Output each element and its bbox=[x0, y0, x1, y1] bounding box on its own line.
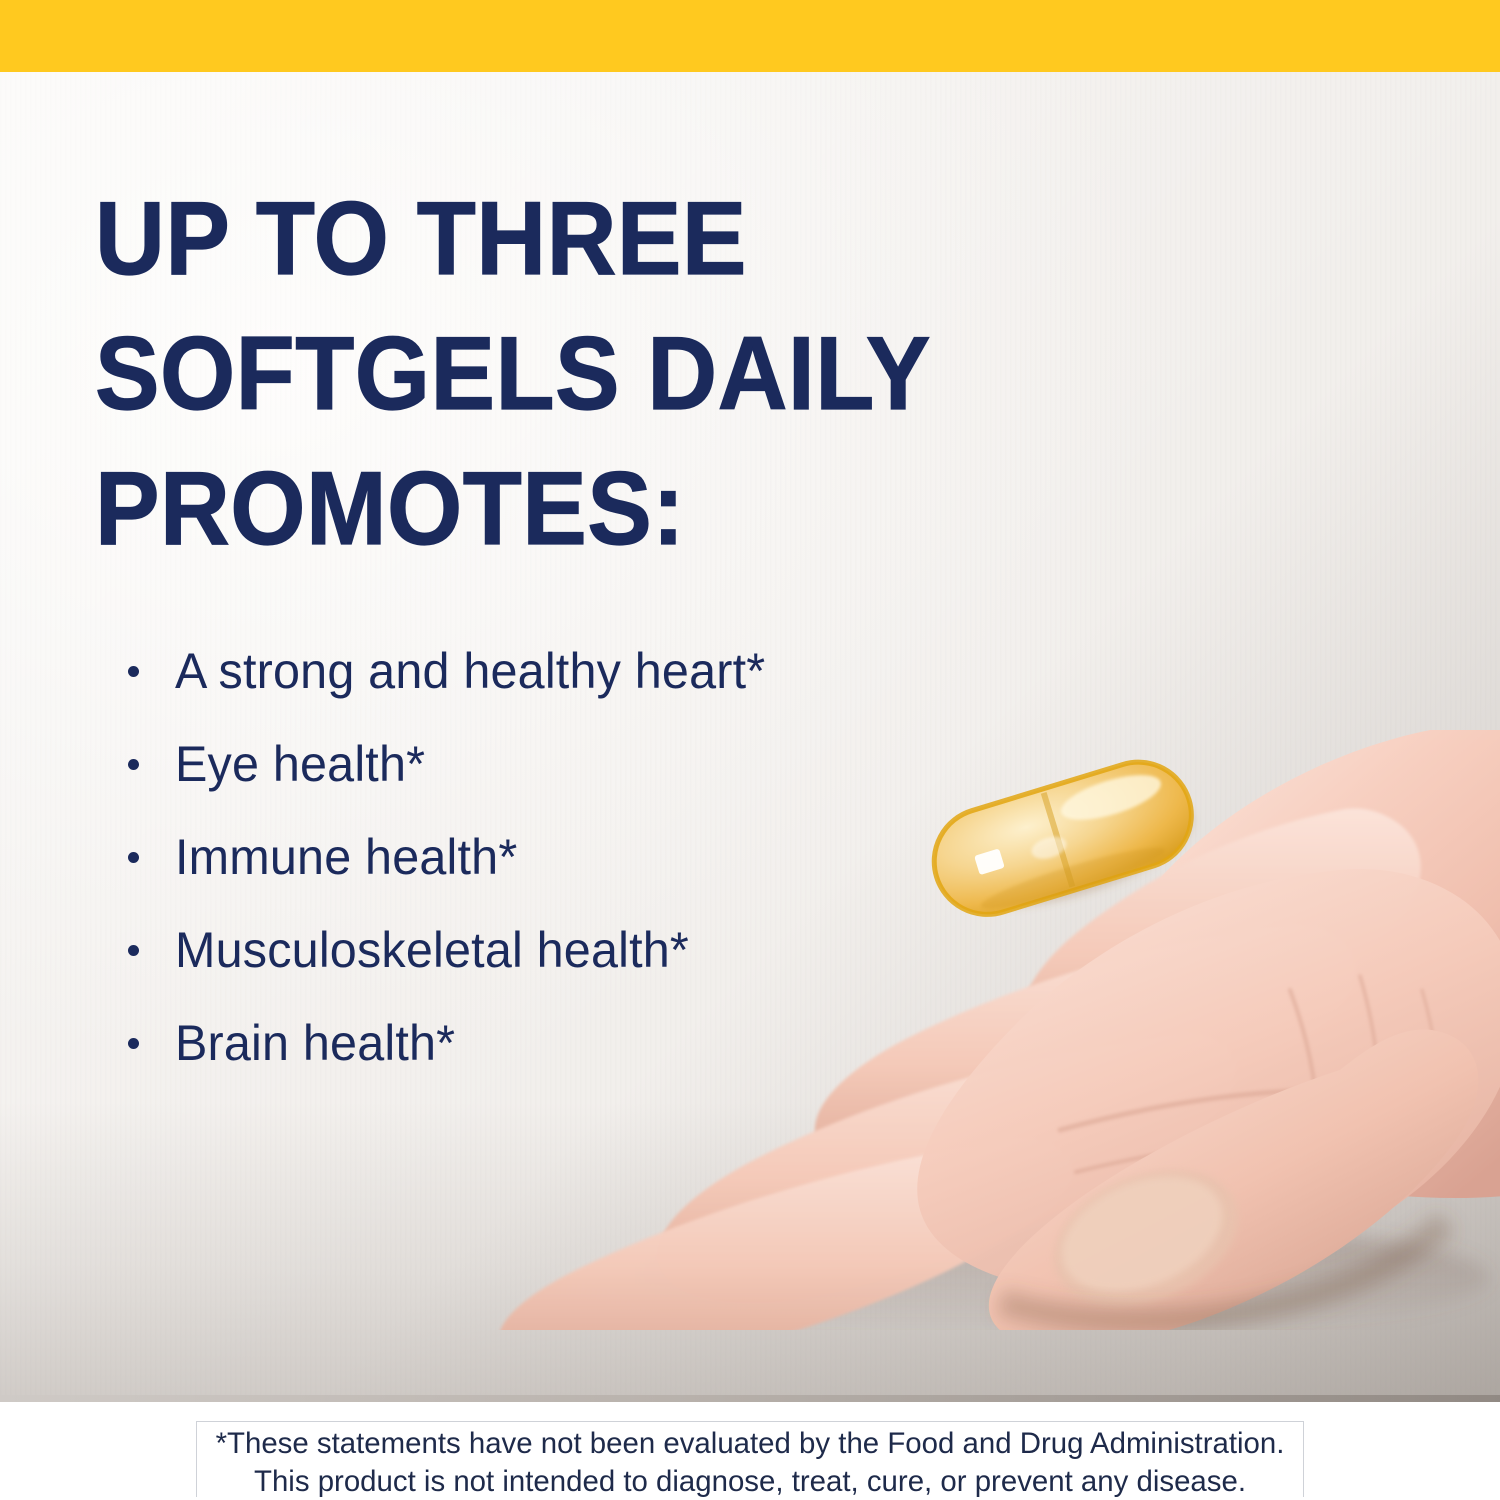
benefit-label: Musculoskeletal health* bbox=[175, 919, 689, 981]
bullet-dot-icon bbox=[128, 945, 139, 956]
bullet-dot-icon bbox=[128, 852, 139, 863]
bullet-dot-icon bbox=[128, 666, 139, 677]
top-accent-band bbox=[0, 0, 1500, 72]
benefit-label: Brain health* bbox=[175, 1012, 455, 1074]
benefit-label: A strong and healthy heart* bbox=[175, 640, 765, 702]
list-item: Immune health* bbox=[118, 826, 784, 919]
disclaimer-line-2: This product is not intended to diagnose… bbox=[208, 1463, 1292, 1500]
list-item: Brain health* bbox=[118, 1012, 784, 1105]
photo-bottom-edge bbox=[0, 1395, 1500, 1402]
list-item: Eye health* bbox=[118, 733, 784, 826]
headline: UP TO THREE SOFTGELS DAILY PROMOTES: bbox=[95, 172, 1215, 577]
benefit-label: Eye health* bbox=[175, 733, 425, 795]
list-item: A strong and healthy heart* bbox=[118, 640, 784, 733]
bullet-dot-icon bbox=[128, 759, 139, 770]
headline-line-3: PROMOTES: bbox=[95, 442, 1137, 577]
headline-line-2: SOFTGELS DAILY bbox=[95, 307, 1137, 442]
list-item: Musculoskeletal health* bbox=[118, 919, 784, 1012]
benefits-list: A strong and healthy heart* Eye health* … bbox=[118, 640, 784, 1105]
disclaimer-line-1: *These statements have not been evaluate… bbox=[208, 1425, 1292, 1463]
product-benefits-graphic: UP TO THREE SOFTGELS DAILY PROMOTES: A s… bbox=[0, 0, 1500, 1500]
benefit-label: Immune health* bbox=[175, 826, 517, 888]
fda-disclaimer-box: *These statements have not been evaluate… bbox=[196, 1421, 1304, 1497]
bullet-dot-icon bbox=[128, 1038, 139, 1049]
headline-line-1: UP TO THREE bbox=[95, 172, 1137, 307]
